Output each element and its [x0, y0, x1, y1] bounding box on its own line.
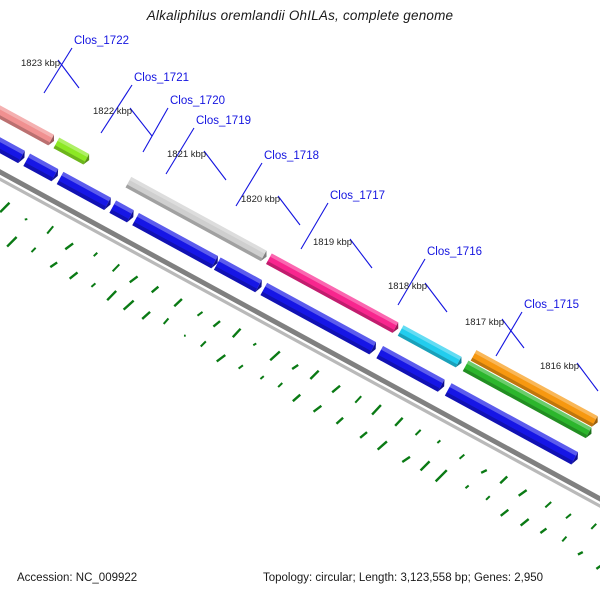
- gene-label-clos_1722[interactable]: Clos_1722: [74, 35, 129, 47]
- gene-c[interactable]: [57, 172, 111, 210]
- coordinate-label: 1817 kbp: [465, 317, 504, 328]
- tick-leader-line: [425, 283, 447, 312]
- genome-summary-text: Topology: circular; Length: 3,123,558 bp…: [263, 572, 543, 584]
- accession-text: Accession: NC_009922: [17, 572, 137, 584]
- coordinate-label: 1822 kbp: [93, 106, 132, 117]
- gene-b[interactable]: [23, 154, 58, 182]
- gene-label-clos_1719[interactable]: Clos_1719: [196, 115, 251, 127]
- gene-leader-line: [44, 48, 72, 93]
- tick-leader-line: [577, 363, 598, 391]
- coordinate-label: 1821 kbp: [167, 149, 206, 160]
- product-clos-1722[interactable]: [0, 83, 54, 145]
- genome-map-canvas[interactable]: [0, 0, 600, 600]
- genome-viewer: Alkaliphilus oremlandii OhILAs, complete…: [0, 0, 600, 600]
- tick-leader-line: [204, 151, 226, 180]
- coordinate-label: 1819 kbp: [313, 237, 352, 248]
- genome-backbone[interactable]: [0, 113, 600, 554]
- coordinate-label: 1820 kbp: [241, 194, 280, 205]
- product-clos-1721[interactable]: [54, 138, 90, 165]
- tick-leader-line: [58, 60, 79, 88]
- gene-label-clos_1718[interactable]: Clos_1718: [264, 150, 319, 162]
- tick-leader-line: [130, 108, 152, 136]
- coordinate-label: 1823 kbp: [21, 58, 60, 69]
- tick-leader-line: [350, 239, 372, 268]
- gene-d[interactable]: [109, 201, 133, 223]
- tick-leader-line: [502, 319, 524, 348]
- gene-label-clos_1716[interactable]: Clos_1716: [427, 246, 482, 258]
- coordinate-label: 1816 kbp: [540, 361, 579, 372]
- coordinate-label: 1818 kbp: [388, 281, 427, 292]
- gene-label-clos_1715[interactable]: Clos_1715: [524, 299, 579, 311]
- tick-leader-line: [278, 196, 300, 225]
- gene-label-clos_1717[interactable]: Clos_1717: [330, 190, 385, 202]
- gene-f[interactable]: [214, 257, 262, 292]
- gene-label-clos_1721[interactable]: Clos_1721: [134, 72, 189, 84]
- gene-label-clos_1720[interactable]: Clos_1720: [170, 95, 225, 107]
